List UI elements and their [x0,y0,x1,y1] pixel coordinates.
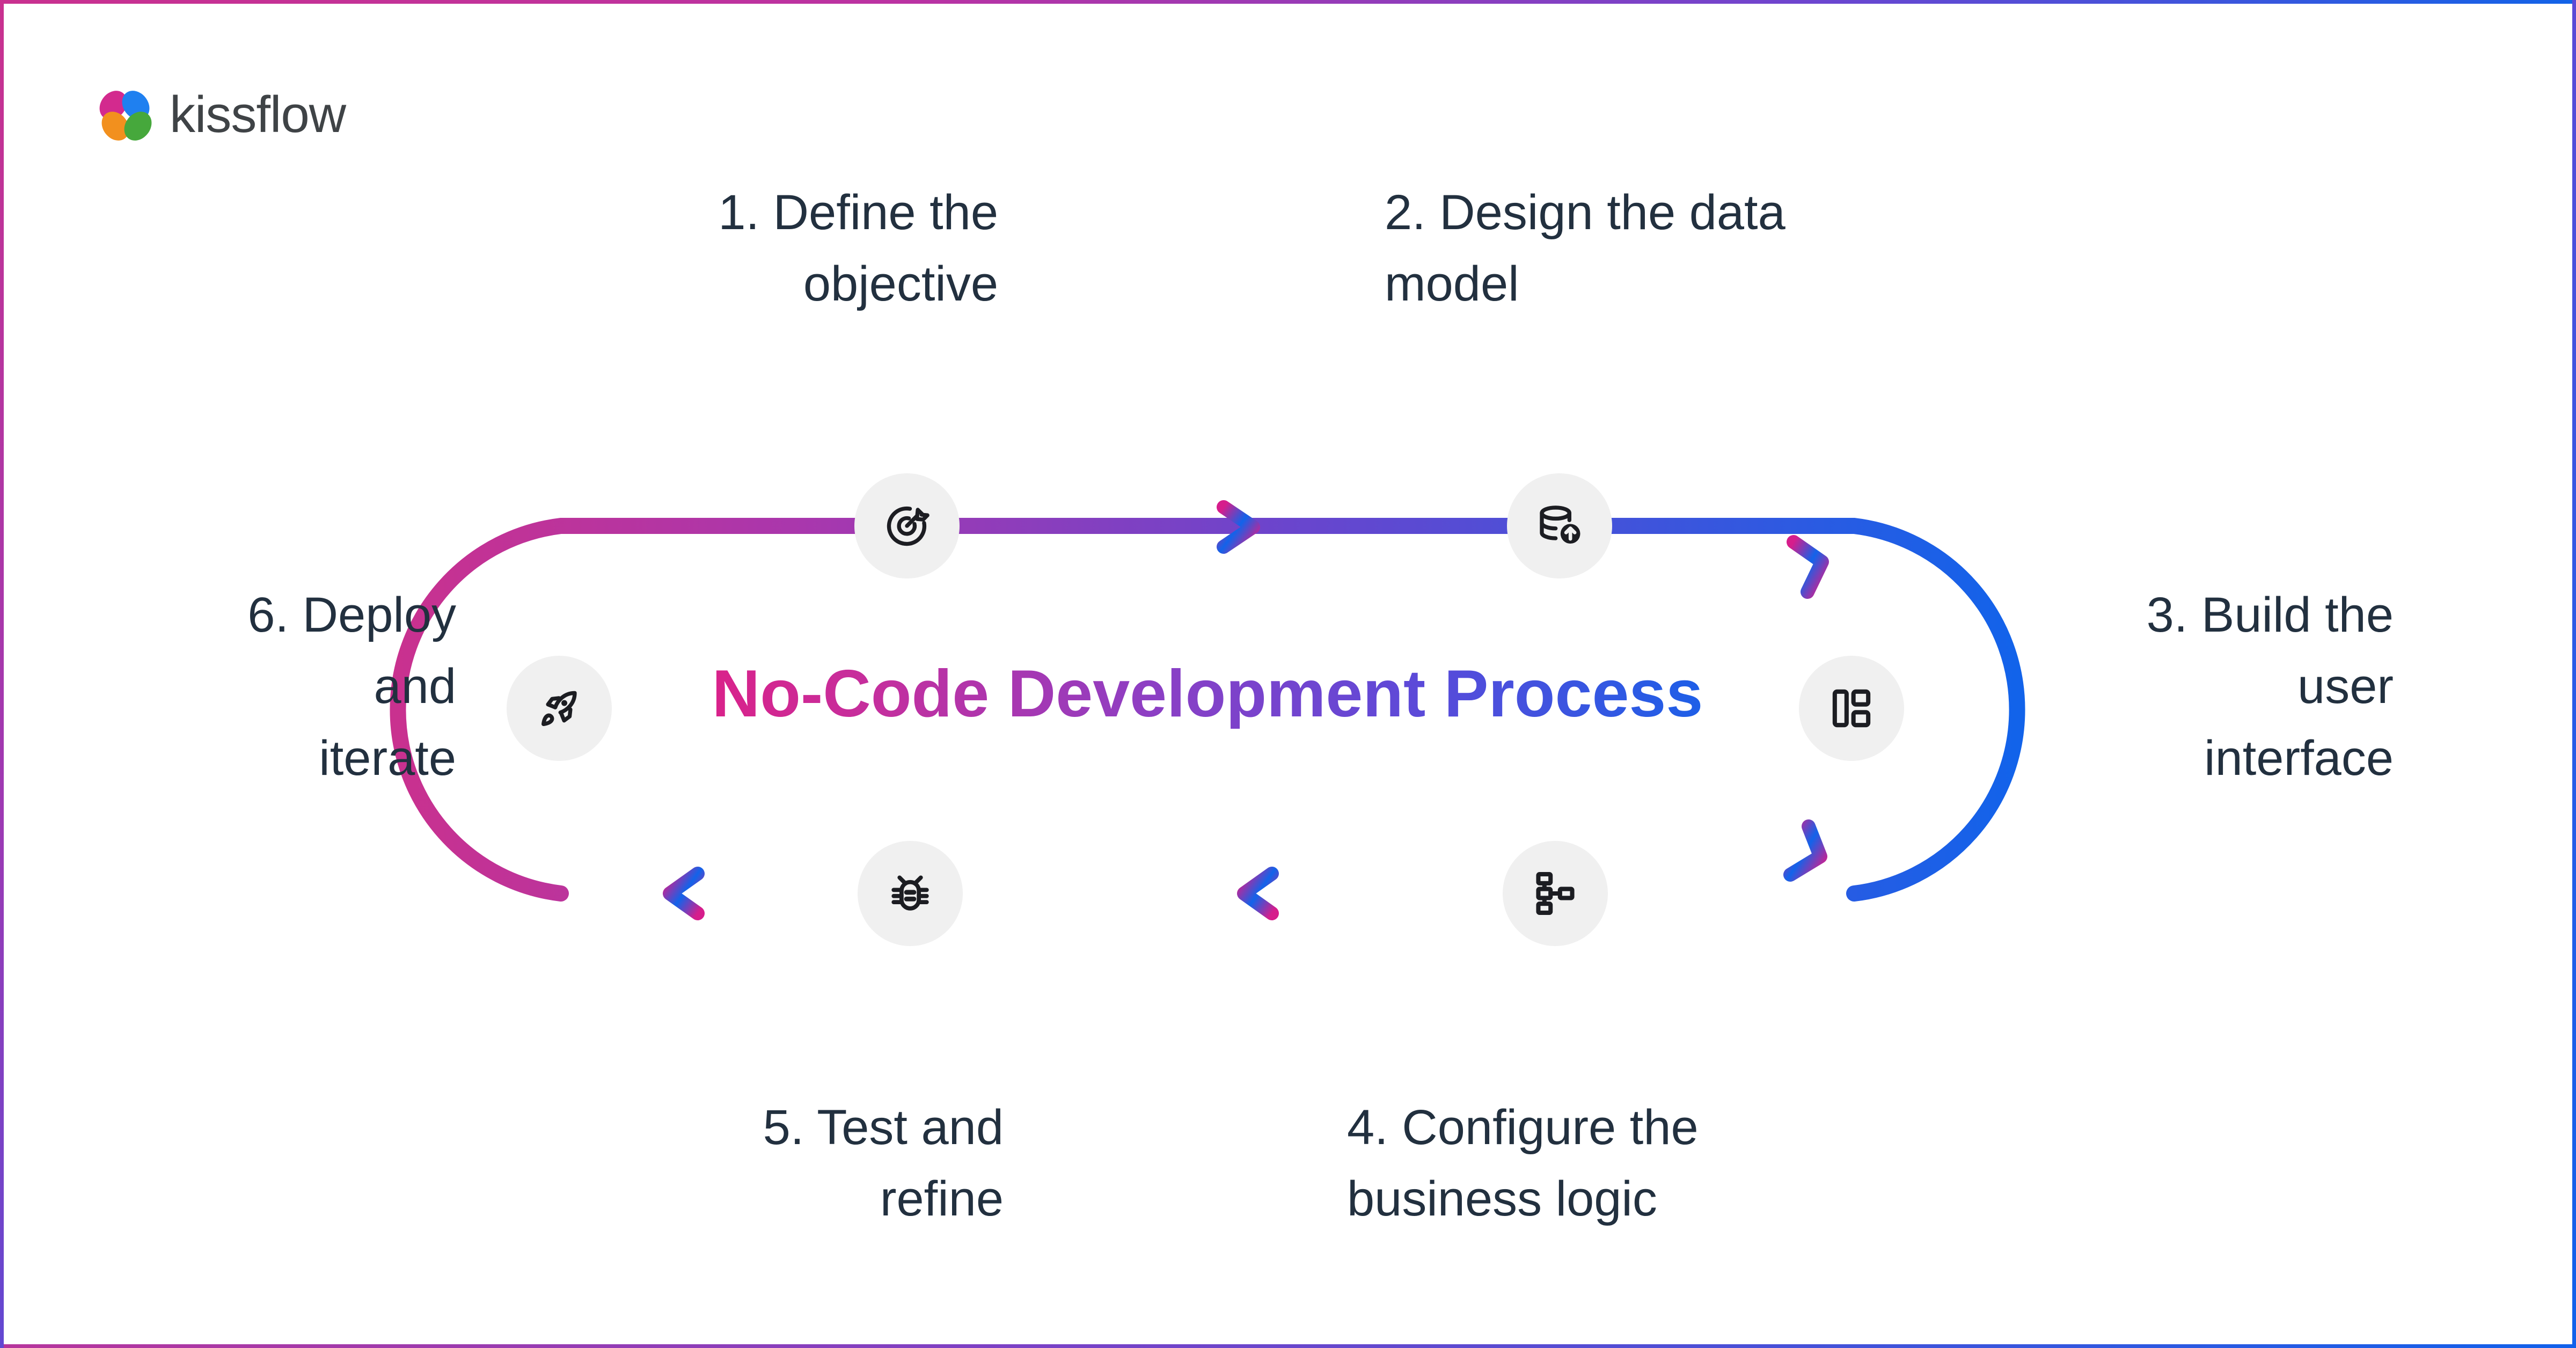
bug-debug-icon [887,870,934,917]
step-label-2: 2. Design the data model [1385,177,1846,320]
node-step-3[interactable] [1799,656,1904,761]
step-2-text1: Design the data [1439,185,1785,240]
database-upload-icon [1536,502,1583,550]
workflow-nodes-icon [1532,870,1579,917]
step-label-5: 5. Test and refine [639,1092,1004,1235]
rocket-launch-icon [536,685,583,732]
diagram-canvas: kissflow [0,0,2576,1348]
node-step-5[interactable] [858,841,963,946]
step-6-num: 6. [247,588,289,642]
step-4-num: 4. [1347,1100,1388,1155]
step-label-3: 3. Build the user interface [2061,580,2394,794]
target-goal-icon [883,502,931,550]
step-5-text1: Test and [817,1100,1004,1155]
arrow-right-upper [1794,542,1822,592]
step-label-4: 4. Configure the business logic [1347,1092,1830,1235]
node-step-6[interactable] [507,656,612,761]
step-1-text2: objective [803,257,998,311]
node-step-1[interactable] [854,473,960,578]
step-3-num: 3. [2147,588,2188,642]
step-label-1: 1. Define the objective [633,177,998,320]
step-1-text1: Define the [773,185,998,240]
step-label-6: 6. Deploy and iterate [123,580,456,794]
arrow-right-lower [1790,826,1820,875]
step-5-text2: refine [880,1171,1004,1226]
step-4-text1: Configure the [1402,1100,1698,1155]
step-6-text1: Deploy [303,588,456,642]
step-2-num: 2. [1385,185,1426,240]
step-3-text3: interface [2204,731,2394,786]
step-5-num: 5. [763,1100,804,1155]
node-step-4[interactable] [1503,841,1608,946]
step-4-text2: business logic [1347,1171,1657,1226]
node-step-2[interactable] [1507,473,1612,578]
step-1-line1: 1. [718,185,759,240]
layout-dashboard-icon [1828,685,1875,732]
step-2-text2: model [1385,257,1519,311]
process-loop: No-Code Development Process 1. Define th… [0,0,2576,1348]
step-6-text2: and [374,659,457,714]
step-6-text3: iterate [319,731,456,786]
diagram-title: No-Code Development Process [660,659,1755,729]
step-3-text1: Build the [2201,588,2394,642]
step-3-text2: user [2297,659,2394,714]
